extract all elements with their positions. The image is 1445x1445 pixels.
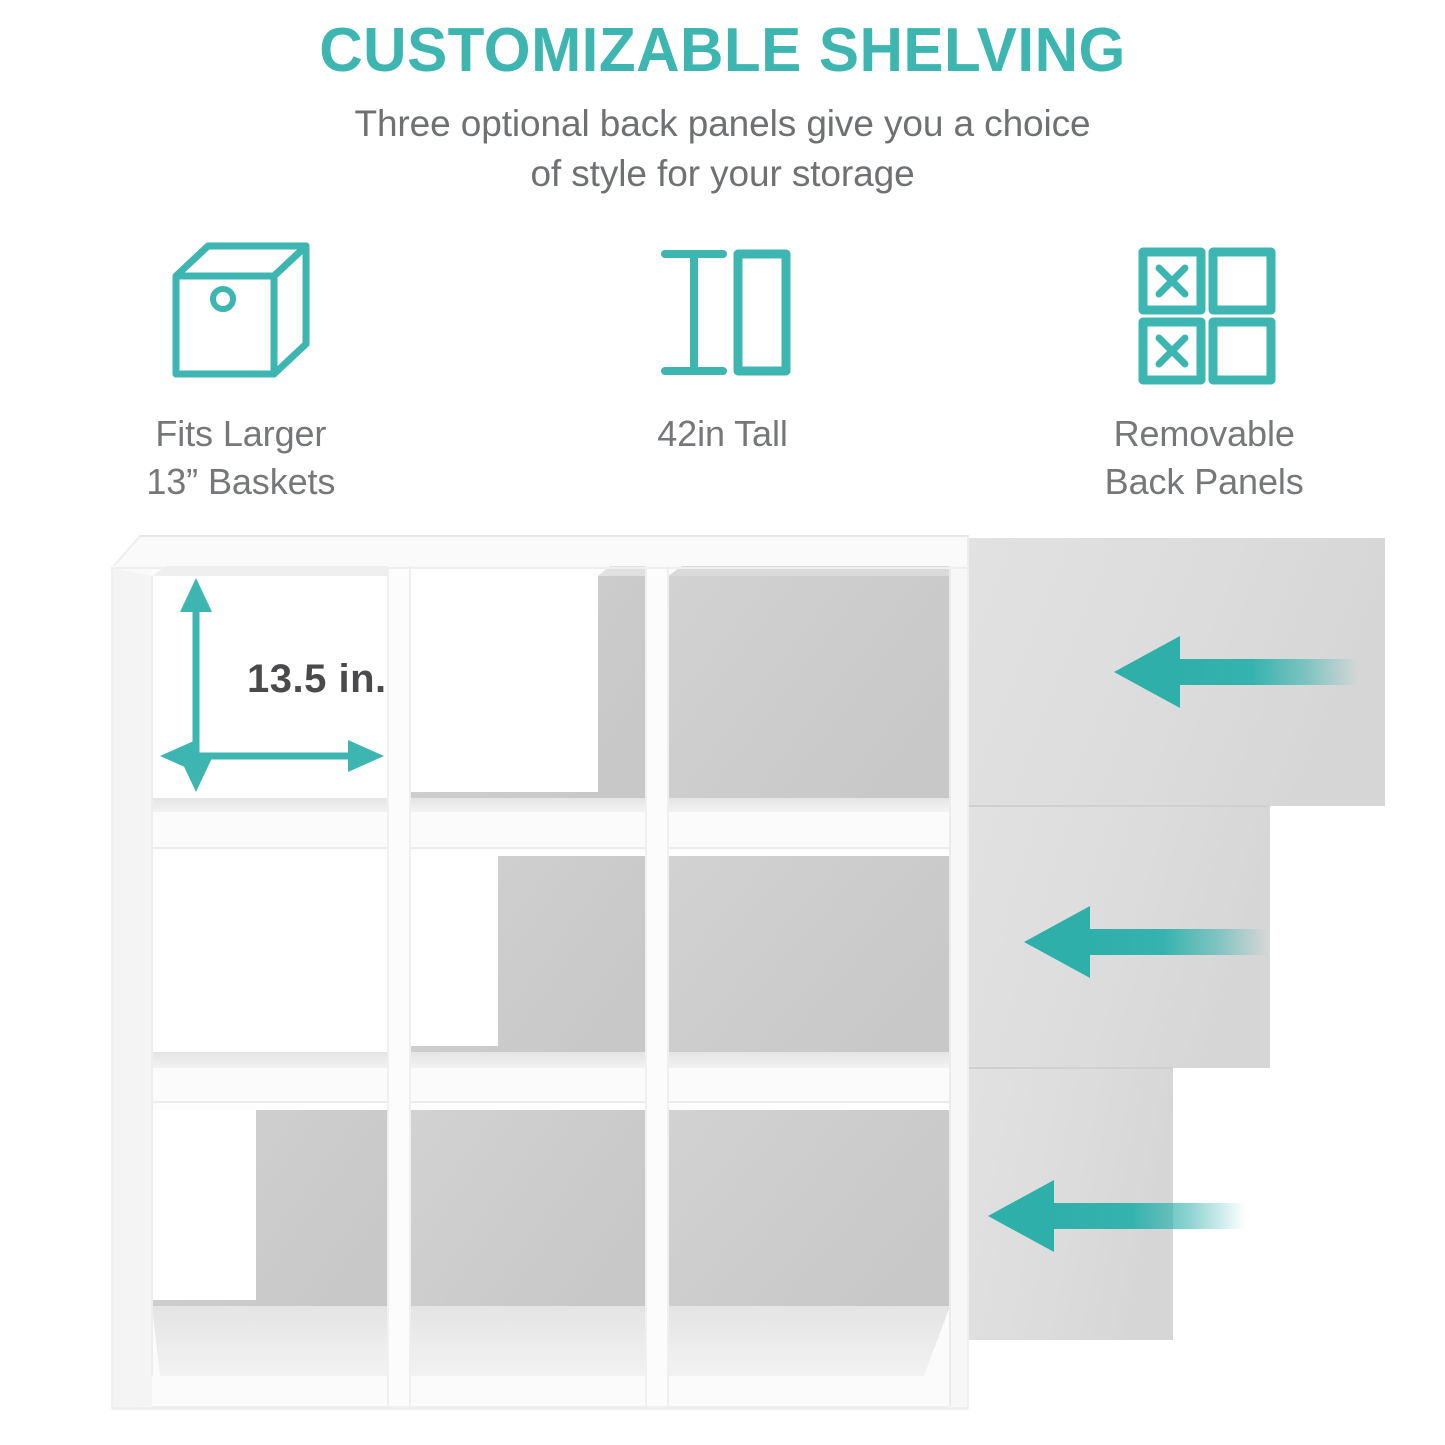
feature-label-height-line-1: 42in Tall (657, 410, 788, 458)
feature-label-panels-line-1: Removable (1105, 410, 1304, 458)
subtitle-line-1: Three optional back panels give you a ch… (0, 99, 1445, 149)
page-title: CUSTOMIZABLE SHELVING (22, 0, 1424, 83)
bottom-back-panel (955, 1068, 1173, 1340)
dimension-annotation: 13.5 in. (160, 578, 387, 792)
vertical-dimension-arrow (180, 578, 212, 792)
height-measure-icon (653, 236, 793, 388)
cube-r2c1 (152, 856, 388, 1052)
bottom-panel-left-arrow-icon (988, 1180, 1246, 1252)
cube-r3c2 (410, 1110, 646, 1306)
feature-label-baskets-line-1: Fits Larger (146, 410, 335, 458)
feature-42in-tall: 42in Tall (482, 236, 964, 506)
feature-removable-panels: Removable Back Panels (963, 236, 1445, 506)
cube-r1c2 (410, 566, 646, 798)
feature-fits-larger-baskets: Fits Larger 13” Baskets (0, 236, 482, 506)
middle-panel-left-arrow-icon (1024, 906, 1268, 978)
feature-label-baskets-line-2: 13” Baskets (146, 458, 335, 506)
cube-r3c3 (668, 1110, 950, 1306)
cube-r2c2 (410, 856, 646, 1052)
horizontal-dimension-arrow (160, 740, 384, 772)
subtitle-line-2: of style for your storage (0, 149, 1445, 199)
cube-r1c1 (152, 566, 388, 798)
storage-cube-icon (166, 236, 316, 388)
feature-label-height: 42in Tall (657, 410, 788, 458)
back-panel-group (955, 538, 1385, 1340)
dimension-label: 13.5 in. (247, 657, 387, 701)
feature-label-panels: Removable Back Panels (1105, 410, 1304, 506)
top-panel-left-arrow-icon (1114, 636, 1358, 708)
product-illustration: 13.5 in. (0, 0, 1445, 1445)
middle-back-panel (955, 806, 1270, 1068)
cube-shelving-unit (112, 536, 968, 1408)
panel-arrow-group (988, 636, 1358, 1252)
removable-panels-grid-icon (1129, 236, 1279, 388)
cube-r2c3 (668, 856, 950, 1052)
cube-r1c3 (668, 566, 950, 798)
page-subtitle: Three optional back panels give you a ch… (0, 83, 1445, 200)
feature-label-panels-line-2: Back Panels (1105, 458, 1304, 506)
top-back-panel (955, 538, 1385, 806)
feature-label-baskets: Fits Larger 13” Baskets (146, 410, 335, 506)
feature-row: Fits Larger 13” Baskets 42in Tall (0, 236, 1445, 506)
header: CUSTOMIZABLE SHELVING Three optional bac… (0, 0, 1445, 200)
cube-r3c1 (152, 1110, 388, 1306)
